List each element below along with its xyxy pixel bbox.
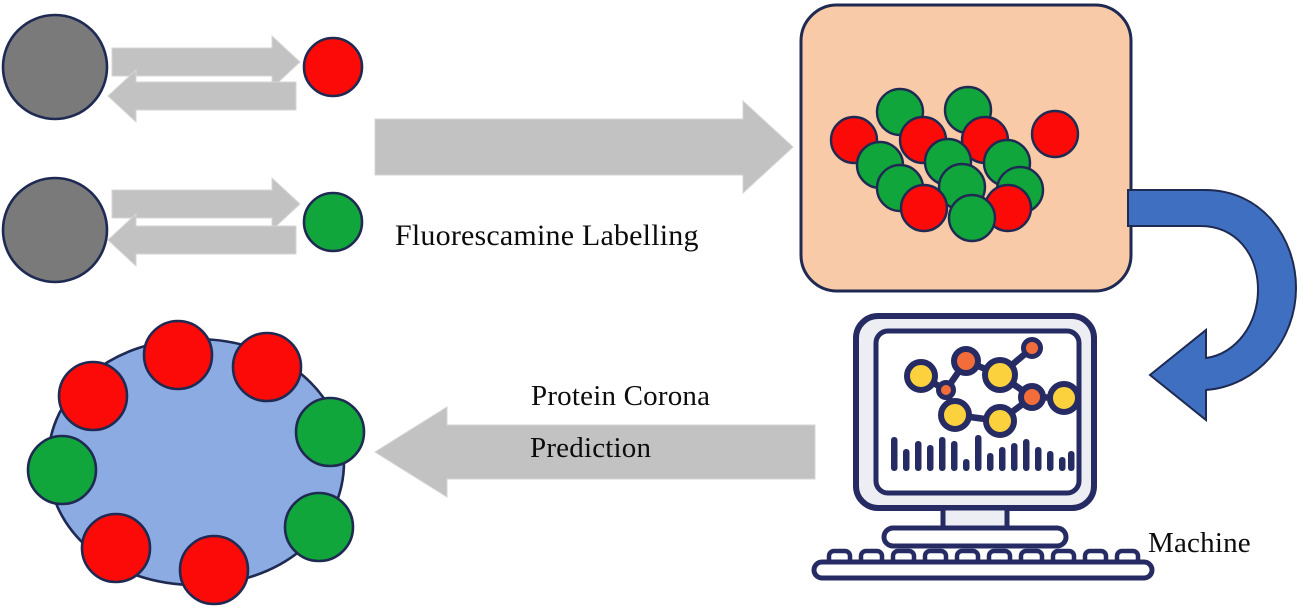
label-machine-learning-line1: Machine: [1148, 527, 1254, 559]
label-protein-corona: Protein Corona: [531, 380, 710, 412]
arrow-reverse-bottom: [108, 214, 296, 266]
arrow-forward-bottom: [112, 178, 300, 230]
corona-protein-green-2: [28, 436, 96, 504]
nanoparticle-bottom: [3, 178, 107, 282]
computer-monitor-group: [814, 316, 1152, 578]
well-group: [801, 5, 1131, 291]
stage-binding-group: [3, 15, 362, 282]
workflow-diagram: [0, 0, 1302, 608]
corona-protein-green-3: [285, 493, 353, 561]
protein-green-bottom: [304, 193, 362, 251]
arrow-ml-curved: [1128, 190, 1296, 420]
figure-root: Fluorescamine Labelling Protein Corona P…: [0, 0, 1302, 608]
corona-group: [28, 321, 364, 604]
monitor-stand-base: [884, 528, 1066, 546]
keyboard-body: [814, 562, 1152, 578]
label-machine-learning: Machine Learning: [1148, 462, 1254, 608]
nanoparticle-top: [3, 15, 107, 119]
label-fluorescamine-labelling: Fluorescamine Labelling: [395, 219, 699, 253]
corona-protein-red-1: [144, 321, 212, 389]
arrow-reverse-top: [108, 70, 296, 122]
arrow-labelling: [375, 101, 793, 193]
label-prediction: Prediction: [530, 432, 651, 464]
corona-protein-red-3: [59, 362, 127, 430]
corona-protein-red-4: [82, 514, 150, 582]
corona-protein-green-1: [296, 398, 364, 466]
keyboard: [814, 551, 1152, 578]
corona-protein-red-5: [180, 536, 248, 604]
corona-protein-red-2: [233, 333, 301, 401]
protein-red-top: [304, 38, 362, 96]
arrow-forward-top: [112, 36, 300, 88]
